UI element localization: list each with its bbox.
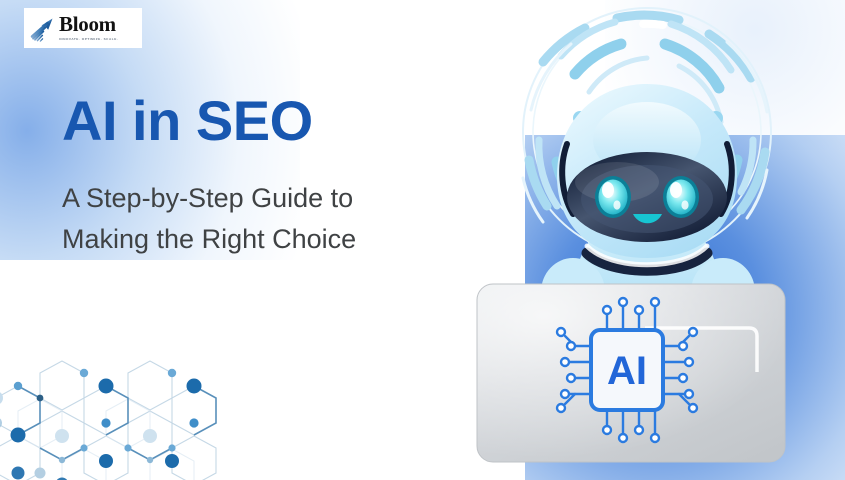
hexagon-network-pattern xyxy=(0,356,236,480)
headline-block: AI in SEO A Step-by-Step Guide to Making… xyxy=(62,92,452,260)
logo-tagline: INNOVATE. OPTIMIZE. SCALE. xyxy=(59,38,118,41)
page-title: AI in SEO xyxy=(62,92,452,150)
rising-arrow-icon xyxy=(28,13,58,43)
page-subtitle: A Step-by-Step Guide to Making the Right… xyxy=(62,178,422,260)
chip-label: AI xyxy=(607,349,647,393)
robot-head-icon xyxy=(557,84,737,270)
logo-wordmark: Bloom xyxy=(59,14,118,35)
ai-robot-illustration: AI xyxy=(465,0,845,480)
brand-logo[interactable]: Bloom INNOVATE. OPTIMIZE. SCALE. xyxy=(24,8,142,48)
ai-seo-banner: Bloom INNOVATE. OPTIMIZE. SCALE. AI in S… xyxy=(0,0,845,480)
